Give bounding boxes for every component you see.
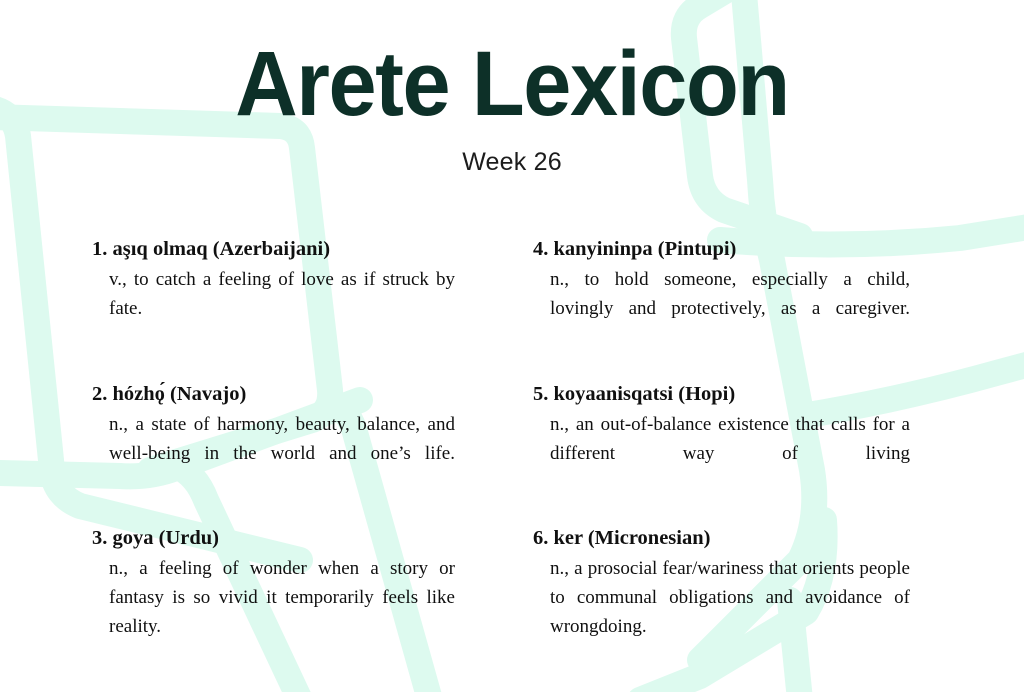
right-column: 4. kanyininpa (Pintupi) n., to hold some… xyxy=(455,237,910,671)
entry-headword: 5. koyaanisqatsi (Hopi) xyxy=(533,382,910,407)
entry-headword: 6. ker (Micronesian) xyxy=(533,526,910,551)
entry-definition: n., an out-of-balance existence that cal… xyxy=(533,411,910,498)
left-column: 1. aşıq olmaq (Azerbaijani) v., to catch… xyxy=(0,237,455,671)
poster-header: Arete Lexicon Week 26 xyxy=(0,0,1024,175)
entry-headword: 3. goya (Urdu) xyxy=(92,526,455,551)
entry-columns: 1. aşıq olmaq (Azerbaijani) v., to catch… xyxy=(0,237,1024,671)
poster-content: Arete Lexicon Week 26 1. aşıq olmaq (Aze… xyxy=(0,0,1024,692)
entry-definition: n., a state of harmony, beauty, balance,… xyxy=(92,411,455,498)
entry-definition: n., to hold someone, especially a child,… xyxy=(533,266,910,353)
lexicon-entry: 2. hózhǫ́ (Navajo) n., a state of harmon… xyxy=(92,382,455,498)
entry-definition: n., a prosocial fear/wariness that orien… xyxy=(533,555,910,671)
entry-headword: 1. aşıq olmaq (Azerbaijani) xyxy=(92,237,455,262)
page-title: Arete Lexicon xyxy=(31,38,994,130)
entry-definition: n., a feeling of wonder when a story or … xyxy=(92,555,455,671)
lexicon-entry: 5. koyaanisqatsi (Hopi) n., an out-of-ba… xyxy=(533,382,910,498)
lexicon-entry: 4. kanyininpa (Pintupi) n., to hold some… xyxy=(533,237,910,353)
page-subtitle: Week 26 xyxy=(0,130,1024,175)
lexicon-entry: 1. aşıq olmaq (Azerbaijani) v., to catch… xyxy=(92,237,455,353)
lexicon-poster: Arete Lexicon Week 26 1. aşıq olmaq (Aze… xyxy=(0,0,1024,692)
lexicon-entry: 6. ker (Micronesian) n., a prosocial fea… xyxy=(533,526,910,671)
entry-definition: v., to catch a feeling of love as if str… xyxy=(92,266,455,353)
lexicon-entry: 3. goya (Urdu) n., a feeling of wonder w… xyxy=(92,526,455,671)
entry-headword: 4. kanyininpa (Pintupi) xyxy=(533,237,910,262)
entry-headword: 2. hózhǫ́ (Navajo) xyxy=(92,382,455,407)
